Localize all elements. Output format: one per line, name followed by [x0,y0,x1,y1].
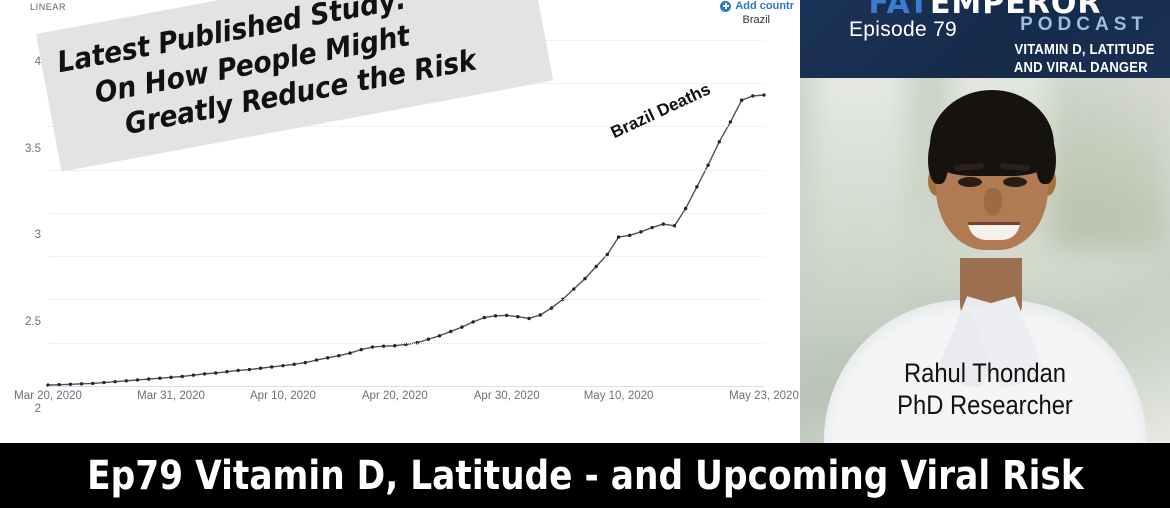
podcast-panel: FATEMPEROR Episode 79 PODCAST VITAMIN D,… [800,0,1170,443]
guest-name: Rahul Thondan [822,358,1148,388]
plus-icon [720,1,731,12]
x-axis-tick-label: Apr 20, 2020 [362,390,428,402]
podcast-subtitle-line-2: AND VIRAL DANGER [1014,60,1148,76]
video-thumbnail: LINEAR Add countr Brazil 00.511.522.533.… [0,0,1170,508]
video-title: Ep79 Vitamin D, Latitude - and Upcoming … [87,453,1084,499]
chart-panel: LINEAR Add countr Brazil 00.511.522.533.… [0,0,800,443]
x-axis-tick-label: Apr 30, 2020 [474,390,540,402]
gridline: 2 [48,213,764,214]
y-axis-tick-label: 3.5 [25,143,41,155]
gridline: 2.5 [48,170,764,171]
podcast-subtitle-line-1: VITAMIN D, LATITUDE [1014,42,1154,58]
gridline: 1.5 [48,256,764,257]
x-axis-tick-label: Mar 20, 2020 [14,390,82,402]
add-country-button[interactable]: Add countr [720,0,794,12]
x-axis-tick-label: Apr 10, 2020 [250,390,316,402]
x-axis-tick-label: May 23, 2020 [729,390,799,402]
y-axis-tick-label: 2.5 [25,316,41,328]
y-axis-tick-label: 2 [35,403,41,415]
podcast-header: FATEMPEROR Episode 79 PODCAST VITAMIN D,… [800,0,1170,78]
x-axis-tick-label: Mar 31, 2020 [137,390,205,402]
add-country-label: Add countr [735,0,794,12]
nose [984,188,1002,216]
hair-side-left [928,132,948,184]
eye-left [958,177,982,187]
scale-label: LINEAR [30,2,66,12]
bottom-title-bar: Ep79 Vitamin D, Latitude - and Upcoming … [0,443,1170,508]
podcast-word: PODCAST [1020,14,1148,36]
y-axis-tick-label: 3 [35,229,41,241]
guest-role: PhD Researcher [822,390,1148,420]
x-axis-tick-label: May 10, 2020 [584,390,654,402]
gridline: 1 [48,299,764,300]
gridline: 0 [48,386,764,387]
episode-number: Episode 79 [818,18,988,42]
eye-right [1003,177,1027,187]
gridline: 0.5 [48,343,764,344]
